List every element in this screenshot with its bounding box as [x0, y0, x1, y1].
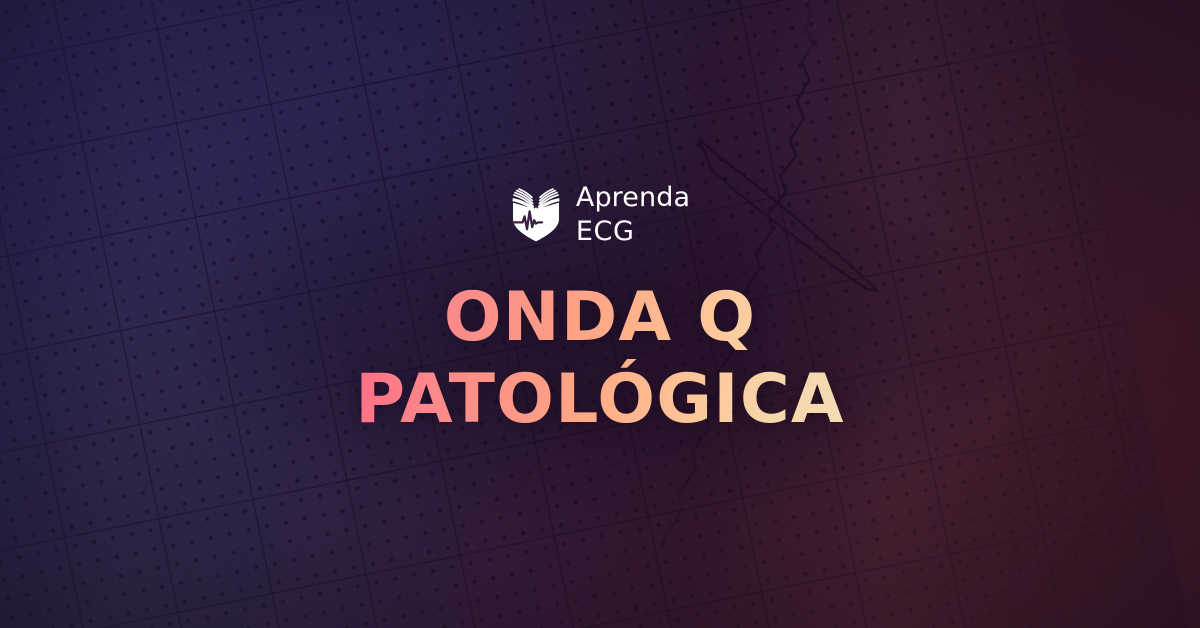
brand-logo[interactable]: Aprenda ECG: [510, 184, 690, 245]
brand-wordmark: Aprenda ECG: [576, 184, 690, 245]
heart-book-ecg-icon: [510, 186, 562, 242]
page-title-line-2: PATOLÓGICA: [355, 361, 845, 439]
page-title: ONDA Q PATOLÓGICA: [355, 279, 845, 438]
brand-word-aprenda: Aprenda: [576, 184, 690, 211]
ecg-title-banner: Aprenda ECG ONDA Q PATOLÓGICA: [0, 0, 1200, 628]
banner-content: Aprenda ECG ONDA Q PATOLÓGICA: [0, 0, 1200, 628]
brand-word-ecg: ECG: [576, 218, 690, 245]
page-title-line-1: ONDA Q: [355, 279, 845, 357]
